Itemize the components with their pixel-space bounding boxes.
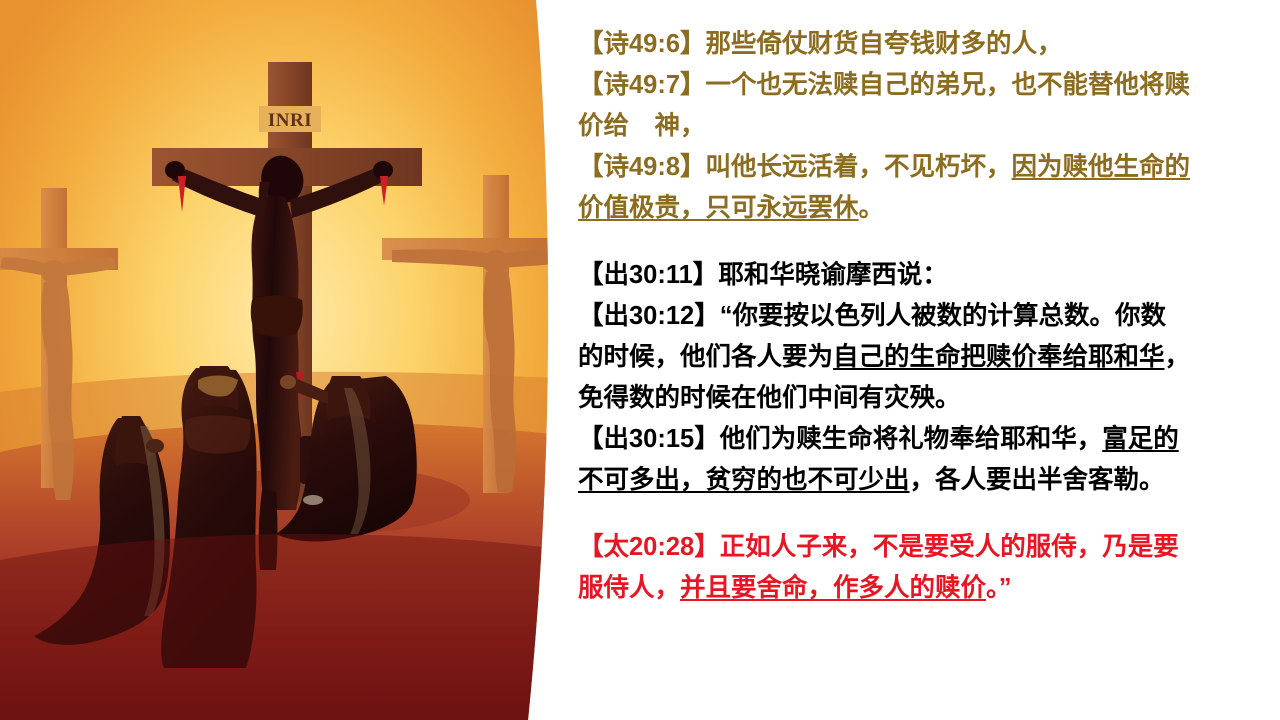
scripture-column: 【诗49:6】那些倚仗财货自夸钱财多的人，【诗49:7】一个也无法赎自己的弟兄，… xyxy=(578,24,1238,696)
jesus-loincloth xyxy=(251,296,303,337)
crucifixion-svg: INRI xyxy=(0,0,552,720)
slide-root: INRI xyxy=(0,0,1280,720)
inri-label: INRI xyxy=(268,110,312,131)
verse-line: 【出30:12】“你要按以色列人被数的计算总数。你数 xyxy=(578,296,1238,337)
verse-line: 价值极贵，只可永远罢休。 xyxy=(578,188,1238,229)
verse-text: 【诗49:7】一个也无法赎自己的弟兄，也不能替他将赎 xyxy=(578,71,1190,99)
verse-block-psalm-49: 【诗49:6】那些倚仗财货自夸钱财多的人，【诗49:7】一个也无法赎自己的弟兄，… xyxy=(578,24,1238,229)
verse-text: ，各人要出半舍客勒。 xyxy=(910,466,1165,494)
verse-line: 价给 神， xyxy=(578,106,1238,147)
verse-text: 【出30:15】他们为赎生命将礼物奉给耶和华， xyxy=(578,425,1102,453)
verse-text: 服侍人， xyxy=(578,574,680,602)
verse-line: 免得数的时候在他们中间有灾殃。 xyxy=(578,378,1238,419)
verse-text: 。” xyxy=(986,574,1012,602)
anointing-vessel xyxy=(303,495,323,505)
mourner-left-hands xyxy=(146,439,164,453)
verse-text: 【诗49:6】那些倚仗财货自夸钱财多的人， xyxy=(578,30,1063,58)
verse-text-underlined: 不可多出，贫穷的也不可少出 xyxy=(578,466,910,494)
verse-line: 【太20:28】正如人子来，不是要受人的服侍，乃是要 xyxy=(578,527,1238,568)
verse-text: 【太20:28】正如人子来，不是要受人的服侍，乃是要 xyxy=(578,533,1179,561)
verse-block-matthew-20: 【太20:28】正如人子来，不是要受人的服侍，乃是要服侍人，并且要舍命，作多人的… xyxy=(578,527,1238,609)
verse-text: 【诗49:8】叫他长远活着，不见朽坏， xyxy=(578,153,1012,181)
verse-block-exodus-30: 【出30:11】耶和华晓谕摩西说：【出30:12】“你要按以色列人被数的计算总数… xyxy=(578,255,1238,501)
mourner-center-shoulders xyxy=(185,416,251,454)
mourner-right-hand xyxy=(280,375,296,389)
verse-text: 。 xyxy=(859,194,885,222)
verse-text: 【出30:12】“你要按以色列人被数的计算总数。你数 xyxy=(578,302,1166,330)
verse-text: 价给 神， xyxy=(578,112,706,140)
scripture-blocks: 【诗49:6】那些倚仗财货自夸钱财多的人，【诗49:7】一个也无法赎自己的弟兄，… xyxy=(578,24,1238,609)
verse-line: 【诗49:8】叫他长远活着，不见朽坏，因为赎他生命的 xyxy=(578,147,1238,188)
verse-text-underlined: 因为赎他生命的 xyxy=(1012,153,1191,181)
crucifixion-illustration: INRI xyxy=(0,0,552,720)
verse-line: 【诗49:6】那些倚仗财货自夸钱财多的人， xyxy=(578,24,1238,65)
verse-text: 【出30:11】耶和华晓谕摩西说： xyxy=(578,261,948,289)
verse-line: 不可多出，贫穷的也不可少出，各人要出半舍客勒。 xyxy=(578,460,1238,501)
verse-text-underlined: 富足的 xyxy=(1102,425,1179,453)
verse-text-underlined: 价值极贵，只可永远罢休 xyxy=(578,194,859,222)
foreground-shadow xyxy=(0,534,552,720)
inri-sign: INRI xyxy=(259,106,321,132)
verse-text: 免得数的时候在他们中间有灾殃。 xyxy=(578,384,961,412)
verse-text-underlined: 并且要舍命，作多人的赎价 xyxy=(680,574,986,602)
verse-line: 【出30:11】耶和华晓谕摩西说： xyxy=(578,255,1238,296)
verse-text-underlined: 自己的生命把赎价奉给耶和华 xyxy=(833,343,1165,371)
verse-line: 服侍人，并且要舍命，作多人的赎价。” xyxy=(578,568,1238,609)
verse-line: 【出30:15】他们为赎生命将礼物奉给耶和华，富足的 xyxy=(578,419,1238,460)
verse-text: ， xyxy=(1165,343,1191,371)
verse-text: 的时候，他们各人要为 xyxy=(578,343,833,371)
verse-line: 【诗49:7】一个也无法赎自己的弟兄，也不能替他将赎 xyxy=(578,65,1238,106)
verse-line: 的时候，他们各人要为自己的生命把赎价奉给耶和华， xyxy=(578,337,1238,378)
